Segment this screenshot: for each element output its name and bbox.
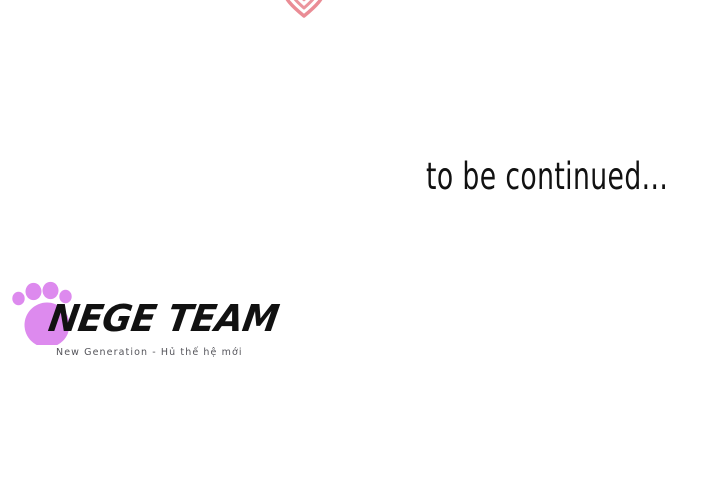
comic-panel: to be continued... NEGE TEAM New Generat… <box>0 0 720 489</box>
to-be-continued-caption: to be continued... <box>426 157 668 197</box>
scanlation-team-watermark: NEGE TEAM New Generation - Hủ thế hệ mới <box>0 272 240 372</box>
team-name-wordmark: NEGE TEAM <box>46 300 281 338</box>
team-tagline: New Generation - Hủ thế hệ mới <box>56 347 243 359</box>
concentric-heart-icon <box>281 0 327 18</box>
